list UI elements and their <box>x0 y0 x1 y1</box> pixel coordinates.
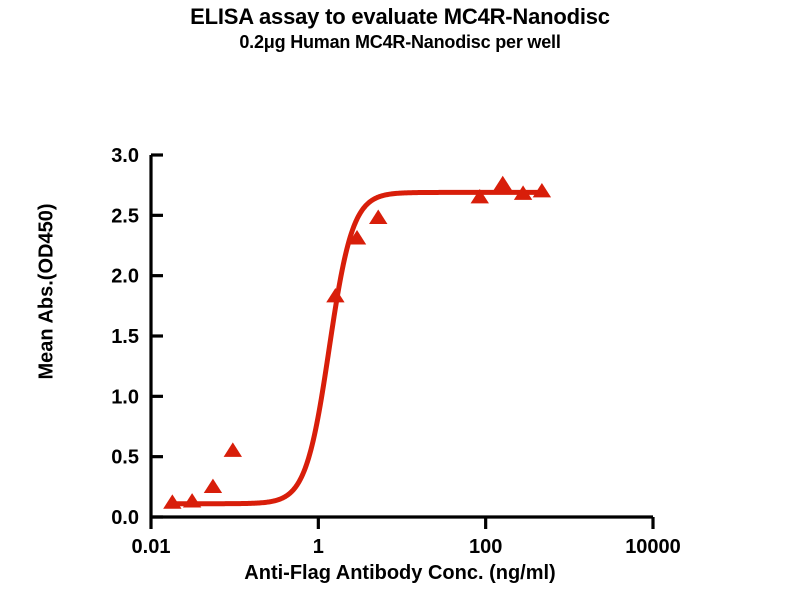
y-axis-ticks <box>151 155 163 517</box>
axis-lines <box>151 155 653 517</box>
y-tick-label: 2.0 <box>111 266 139 288</box>
x-axis-ticks <box>151 517 653 529</box>
y-tick-label: 1.5 <box>111 326 139 348</box>
x-tick-label: 1 <box>313 536 324 558</box>
data-point-markers <box>163 176 551 509</box>
y-axis-tick-labels: 0.00.51.01.52.02.53.0 <box>111 145 139 529</box>
x-tick-label: 100 <box>469 536 502 558</box>
data-point-marker <box>494 176 512 190</box>
y-tick-label: 2.5 <box>111 205 139 227</box>
y-tick-label: 0.0 <box>111 507 139 529</box>
y-tick-label: 3.0 <box>111 145 139 167</box>
x-tick-label: 10000 <box>625 536 681 558</box>
data-point-marker <box>369 210 387 224</box>
y-tick-label: 1.0 <box>111 386 139 408</box>
x-axis-tick-labels: 0.01110010000 <box>132 536 681 558</box>
data-point-marker <box>204 479 222 493</box>
chart-figure: ELISA assay to evaluate MC4R-Nanodisc 0.… <box>0 0 800 600</box>
data-point-marker <box>326 288 344 302</box>
x-tick-label: 0.01 <box>132 536 171 558</box>
y-tick-label: 0.5 <box>111 447 139 469</box>
data-point-marker <box>224 442 242 456</box>
plot-area: 0.00.51.01.52.02.53.0 0.01110010000 <box>0 0 800 600</box>
data-point-marker <box>183 493 201 507</box>
